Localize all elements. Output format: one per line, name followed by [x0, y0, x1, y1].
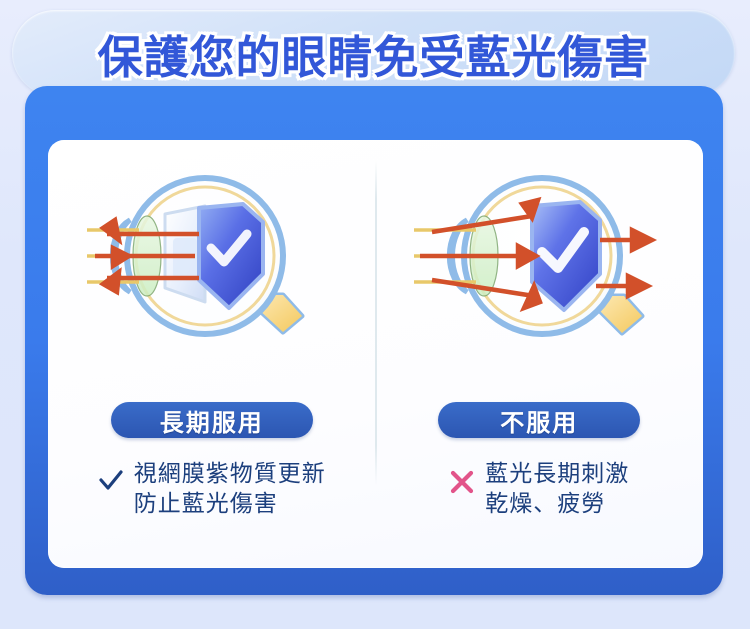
- eye-diagram-blocking: [48, 148, 376, 363]
- caption-right-line-2: 乾燥、疲勞: [485, 488, 629, 518]
- content-frame: 長期服用 視網膜紫物質更新 防止藍光傷害: [25, 86, 723, 595]
- eye-with-shield-penetrated-icon: [414, 156, 664, 356]
- content-card: 長期服用 視網膜紫物質更新 防止藍光傷害: [48, 140, 703, 568]
- eye-diagram-penetrated: [376, 148, 704, 363]
- badge-right-label: 不服用: [500, 403, 578, 438]
- badge-right: 不服用: [438, 402, 640, 438]
- eye-with-shield-blocking-icon: [87, 156, 337, 356]
- caption-right: 藍光長期刺激 乾燥、疲勞: [376, 458, 704, 518]
- title-banner: 保護您的眼睛免受藍光傷害: [12, 10, 735, 96]
- comparison-columns: 長期服用 視網膜紫物質更新 防止藍光傷害: [48, 140, 703, 568]
- poster-root: 保護您的眼睛免受藍光傷害: [0, 0, 750, 629]
- caption-left-line-1: 視網膜紫物質更新: [134, 458, 326, 488]
- caption-right-line-1: 藍光長期刺激: [485, 458, 629, 488]
- cross-icon: [449, 458, 475, 494]
- check-icon: [98, 458, 124, 492]
- panel-right: 不服用 藍光長期刺激 乾燥、疲勞: [376, 140, 704, 568]
- badge-left: 長期服用: [111, 402, 313, 438]
- page-title: 保護您的眼睛免受藍光傷害: [97, 21, 649, 86]
- badge-left-label: 長期服用: [160, 403, 264, 438]
- caption-left: 視網膜紫物質更新 防止藍光傷害: [48, 458, 376, 518]
- caption-left-line-2: 防止藍光傷害: [134, 488, 326, 518]
- panel-left: 長期服用 視網膜紫物質更新 防止藍光傷害: [48, 140, 376, 568]
